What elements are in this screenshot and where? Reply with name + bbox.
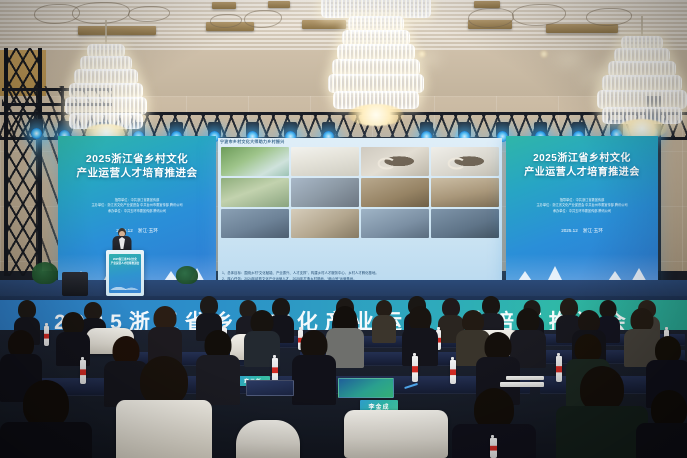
photo-cell (291, 147, 359, 176)
stage-light (246, 122, 259, 139)
chandelier-left (64, 20, 148, 136)
podium-panel-line2: 产业运营人才培育推进会 (109, 262, 141, 266)
right-screen-title-line1: 2025浙江省乡村文化 (506, 152, 658, 166)
photo-cell (291, 178, 359, 207)
stage-plant (176, 266, 198, 284)
chandelier-center (318, 0, 434, 144)
projection-screen-right: 2025浙江省乡村文化 产业运营人才培育推进会 指导单位：中共浙江省委宣传部 主… (506, 136, 658, 288)
left-screen-location: 浙江·玉环 (138, 228, 158, 233)
photo-cell (361, 178, 429, 207)
document-paper (500, 382, 544, 387)
ceiling-downlight (540, 50, 548, 58)
right-screen-location: 浙江·玉环 (583, 228, 603, 233)
audience-person-foreground (116, 356, 212, 458)
photo-cell (361, 147, 429, 176)
laptop (246, 380, 294, 396)
center-screen-photo-grid (221, 147, 499, 238)
water-bottle (490, 438, 497, 458)
center-screen-header: 宁波市乡村文化大师助力乡村振兴 (220, 139, 285, 147)
audience-chair (236, 420, 300, 458)
left-screen-title-line2: 产业运营人才培育推进会 (58, 166, 216, 180)
photo-cell (361, 209, 429, 238)
audience-chair (344, 410, 448, 458)
stage-light (284, 122, 297, 139)
water-bottle (272, 358, 278, 382)
ceiling-light-panel (212, 2, 236, 9)
cloud-motif-icon (375, 154, 416, 169)
photo-cell (221, 209, 289, 238)
cloud-motif-icon (445, 154, 486, 169)
ceiling-light-panel (268, 1, 290, 8)
conference-hall-photo: 2025浙江省乡村文化 产业运营人才培育推进会 指导单位：中共浙江省委宣传部 主… (0, 0, 687, 458)
audience-person (56, 312, 90, 364)
audience-person-foreground (636, 390, 687, 458)
podium: 2025浙江省乡村文化 产业运营人才培育推进会 (106, 250, 144, 296)
right-screen-date: 2025.12 (561, 228, 578, 233)
water-bottle (450, 360, 456, 384)
right-screen-title-line2: 产业运营人才培育推进会 (506, 166, 658, 180)
audience-person (402, 306, 438, 362)
stage-light (458, 122, 471, 139)
laptop (338, 378, 394, 398)
water-bottle (44, 326, 49, 346)
audience-person (292, 330, 336, 402)
photo-cell (291, 209, 359, 238)
photo-cell (431, 178, 499, 207)
audience-person (372, 300, 396, 342)
photo-cell (431, 209, 499, 238)
left-screen-title-line1: 2025浙江省乡村文化 (58, 152, 216, 166)
photo-cell (221, 178, 289, 207)
audience-person (148, 306, 182, 362)
document-paper (506, 376, 544, 380)
photo-cell (431, 147, 499, 176)
audience-person-foreground (0, 380, 92, 458)
stage-floor-monitor (62, 272, 88, 296)
stage-light (30, 119, 43, 136)
stage-plant (32, 262, 58, 284)
audience-person-foreground (556, 366, 648, 458)
chandelier-right (596, 16, 687, 140)
podium-branding-panel: 2025浙江省乡村文化 产业运营人才培育推进会 (109, 254, 141, 293)
water-bottle (412, 356, 418, 382)
podium-mountain-graphic (109, 278, 141, 290)
photo-cell (221, 147, 289, 176)
projection-screen-center: 宁波市乡村文化大师助力乡村振兴 1、总体目标：围绕乡村“文化赋能、产业振兴、人才… (218, 138, 502, 290)
right-screen-sub3: 承办单位：中共玉环市委宣传部 腾讯公司 (506, 209, 658, 214)
left-screen-sub3: 承办单位：中共玉环市委宣传部 腾讯公司 (58, 209, 216, 214)
ceiling-light-panel (474, 1, 500, 8)
